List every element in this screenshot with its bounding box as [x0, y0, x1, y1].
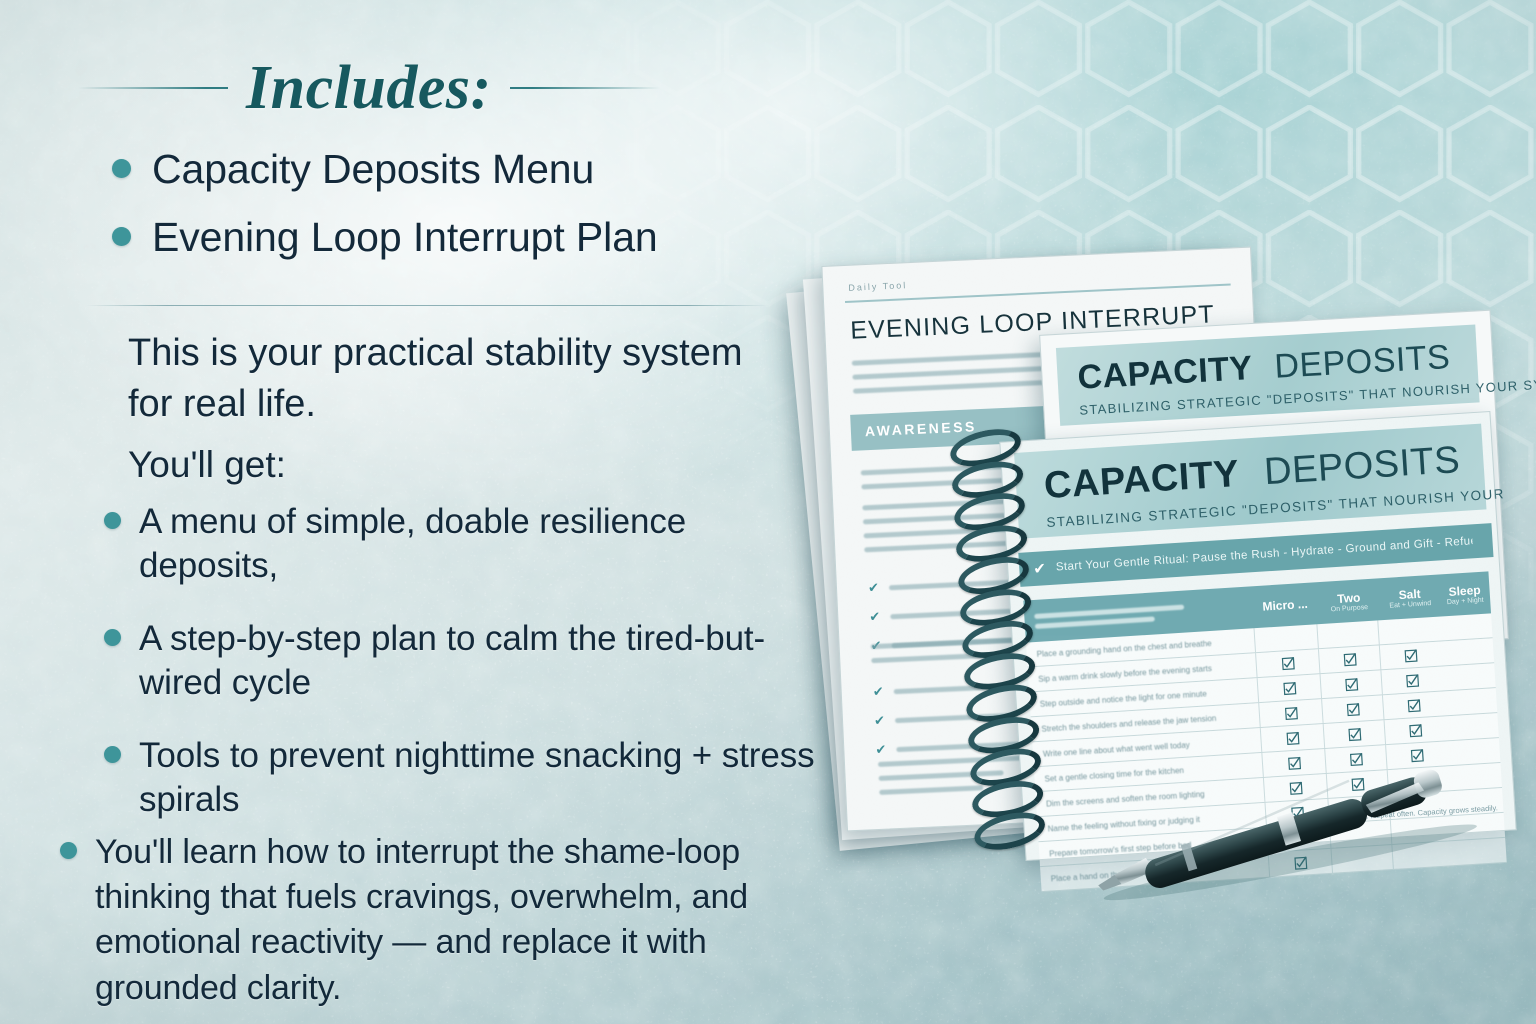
- list-item: Tools to prevent nighttime snacking + st…: [104, 734, 824, 823]
- bullet-dot-icon: [112, 159, 131, 178]
- bullet-dot-icon: [112, 227, 131, 246]
- list-item: Evening Loop Interrupt Plan: [112, 214, 812, 262]
- lead-paragraph: This is your practical stability system …: [128, 328, 748, 429]
- headline-rule-right-icon: [510, 87, 660, 89]
- product-mockup: Daily Tool EVENING LOOP INTERRUPT AWAREN…: [800, 230, 1536, 930]
- bullet-dot-icon: [104, 512, 121, 529]
- bullet-dot-icon: [104, 746, 121, 763]
- final-note-label: You'll learn how to interrupt the shame-…: [95, 830, 840, 1011]
- includes-item-label: Evening Loop Interrupt Plan: [152, 214, 658, 262]
- bullet-dot-icon: [104, 629, 121, 646]
- benefit-label: A step-by-step plan to calm the tired-bu…: [139, 617, 824, 706]
- includes-item-label: Capacity Deposits Menu: [152, 146, 594, 194]
- benefits-list: A menu of simple, doable resilience depo…: [104, 500, 824, 851]
- headline-rule-left-icon: [78, 87, 228, 89]
- list-item: A step-by-step plan to calm the tired-bu…: [104, 617, 824, 706]
- youll-get-label: You'll get:: [128, 443, 286, 487]
- list-item: A menu of simple, doable resilience depo…: [104, 500, 824, 589]
- includes-list: Capacity Deposits Menu Evening Loop Inte…: [112, 146, 812, 281]
- benefit-label: A menu of simple, doable resilience depo…: [139, 500, 824, 589]
- promo-graphic: Includes: Capacity Deposits Menu Evening…: [0, 0, 1536, 1024]
- final-note: You'll learn how to interrupt the shame-…: [60, 830, 840, 1011]
- benefit-label: Tools to prevent nighttime snacking + st…: [139, 734, 824, 823]
- page-title: Includes:: [246, 57, 492, 119]
- copy-column: Includes: Capacity Deposits Menu Evening…: [0, 0, 830, 1024]
- headline-row: Includes:: [78, 52, 778, 124]
- bullet-dot-icon: [60, 842, 77, 859]
- section-divider: [86, 305, 768, 306]
- list-item: Capacity Deposits Menu: [112, 146, 812, 194]
